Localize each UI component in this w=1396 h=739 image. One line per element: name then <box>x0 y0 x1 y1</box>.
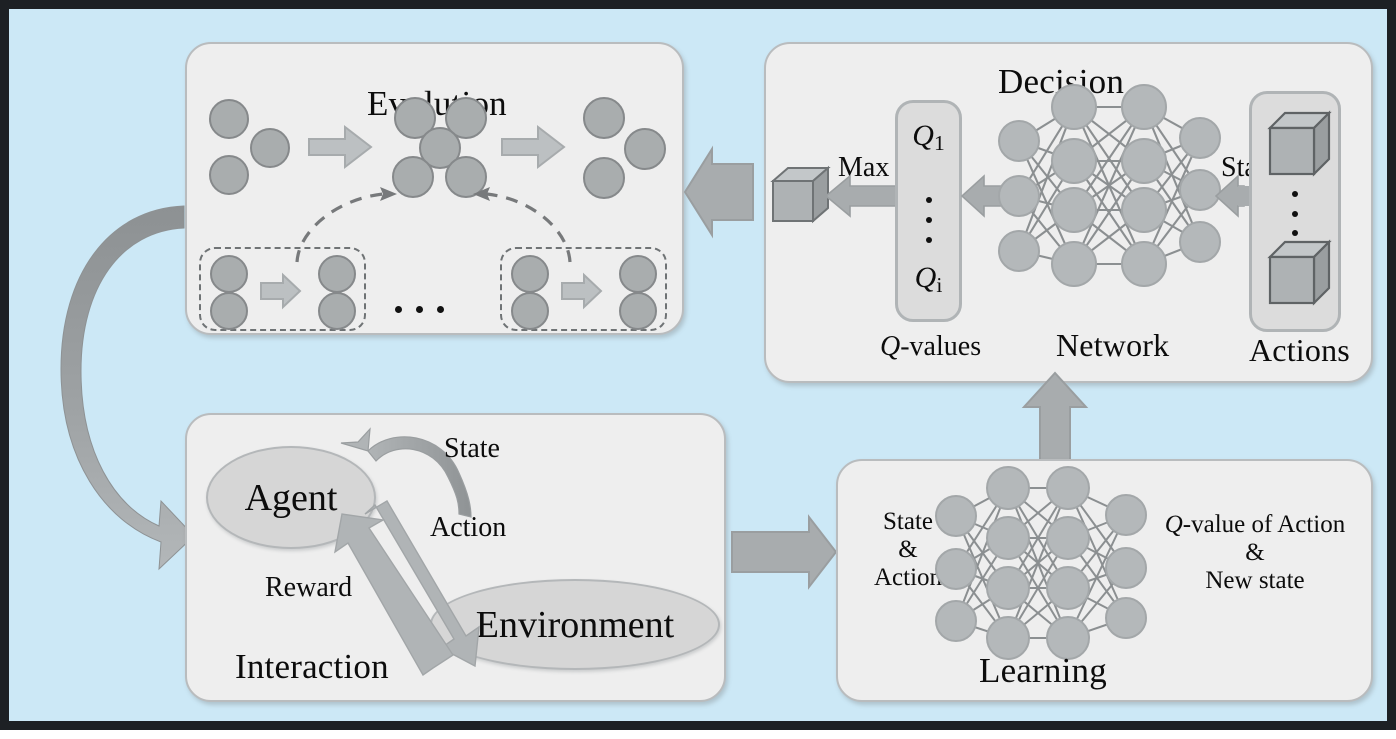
learning-output-label: Q-value of Action & New state <box>1150 511 1360 595</box>
learning-output-line-1: Q-value of Action <box>1150 511 1360 539</box>
learning-panel: State & Action <box>836 459 1373 702</box>
learning-title: Learning <box>979 651 1107 691</box>
figure-canvas: Evolution <box>0 0 1396 730</box>
